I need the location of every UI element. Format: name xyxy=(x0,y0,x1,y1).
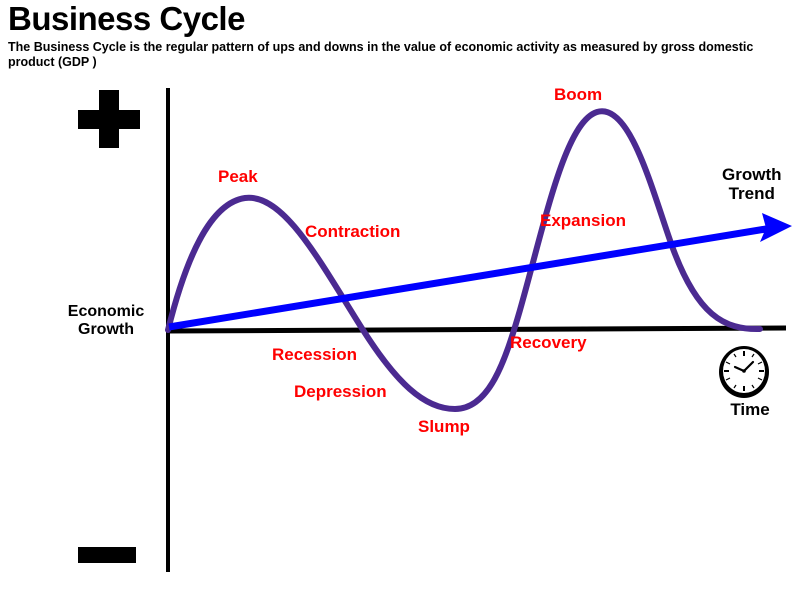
label-growth-trend-line1: Growth xyxy=(722,165,782,184)
business-cycle-diagram: Business Cycle The Business Cycle is the… xyxy=(0,0,800,600)
clock-icon xyxy=(717,345,771,399)
label-expansion: Expansion xyxy=(540,211,626,230)
growth-trend-arrow xyxy=(169,213,792,327)
x-axis xyxy=(166,328,786,331)
label-recovery: Recovery xyxy=(510,333,587,352)
label-growth-trend: Growth Trend xyxy=(722,165,782,203)
label-growth-trend-line2: Trend xyxy=(722,184,782,203)
label-boom: Boom xyxy=(554,85,602,104)
label-economic-growth-line2: Growth xyxy=(52,321,160,339)
label-economic-growth: Economic Growth xyxy=(52,303,160,339)
label-economic-growth-line1: Economic xyxy=(52,303,160,321)
business-cycle-curve xyxy=(168,111,760,409)
minus-icon xyxy=(78,547,136,563)
plus-icon xyxy=(78,90,140,148)
label-slump: Slump xyxy=(418,417,470,436)
label-recession: Recession xyxy=(272,345,357,364)
label-depression: Depression xyxy=(294,382,387,401)
label-peak: Peak xyxy=(218,167,258,186)
label-time: Time xyxy=(722,400,778,419)
plus-icon-vertical-bar xyxy=(99,90,119,148)
label-contraction: Contraction xyxy=(305,222,400,241)
